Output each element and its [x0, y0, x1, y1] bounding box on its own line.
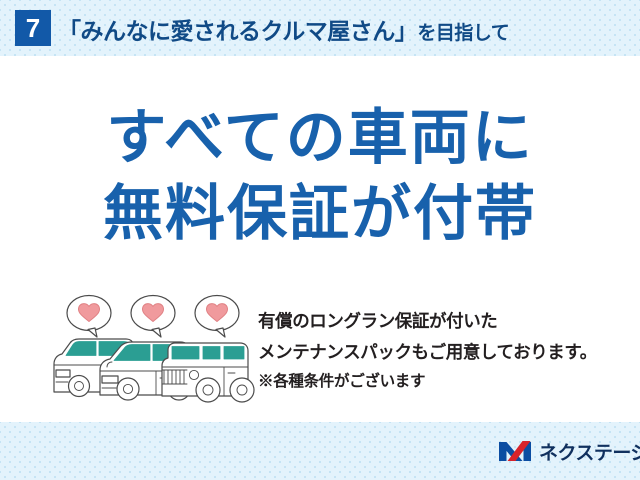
headline-line-1: すべての車両に: [0, 100, 640, 176]
header-title: 「みんなに愛されるクルマ屋さん」 を目指して: [58, 12, 509, 44]
three-cars-illustration: [48, 292, 258, 404]
headline-line-2: 無料保証が付帯: [0, 176, 640, 252]
header-title-tail: を目指して: [417, 18, 509, 45]
section-number-badge: 7: [15, 10, 51, 46]
description-note: ※各種条件がございます: [258, 368, 628, 396]
header-title-quoted: 「みんなに愛されるクルマ屋さん」: [58, 12, 417, 46]
heart-bubble-3: [195, 296, 239, 338]
description-line-2: メンテナンスパックもご用意しております。: [258, 337, 628, 368]
promo-slide: 7 「みんなに愛されるクルマ屋さん」 を目指して すべての車両に 無料保証が付帯: [0, 0, 640, 480]
heart-bubble-1: [67, 296, 111, 338]
nextage-n-logo-icon: [498, 439, 532, 463]
cars-svg: [48, 292, 258, 404]
brand-logo-text: ネクステージ: [539, 438, 640, 465]
brand-logo: ネクステージ: [498, 437, 628, 465]
headline-block: すべての車両に 無料保証が付帯: [0, 100, 640, 252]
car-suv-offroader: [162, 343, 254, 402]
heart-bubble-2: [131, 296, 175, 338]
description-block: 有償のロングラン保証が付いた メンテナンスパックもご用意しております。 ※各種条…: [258, 306, 628, 396]
description-line-1: 有償のロングラン保証が付いた: [258, 306, 628, 337]
